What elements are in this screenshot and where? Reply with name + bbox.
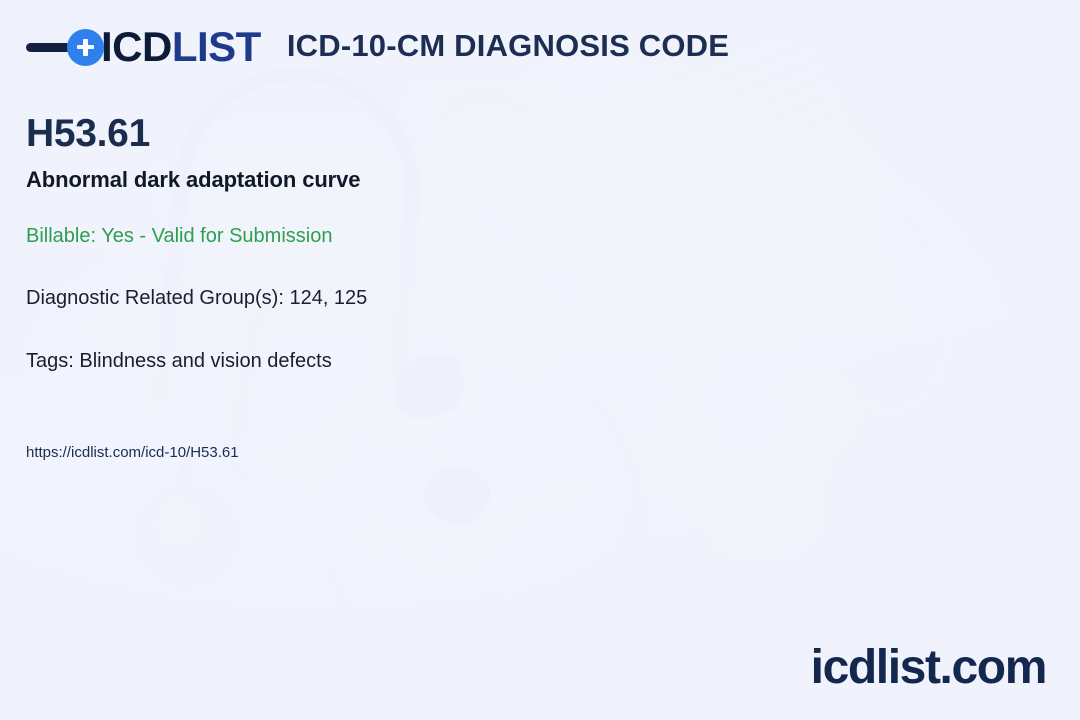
logo-word-icd: ICD [101,23,172,70]
source-url[interactable]: https://icdlist.com/icd-10/H53.61 [26,445,239,462]
brand-watermark: icdlist.com [811,644,1046,692]
card-header: ICDLIST ICD-10-CM DIAGNOSIS CODE [26,26,729,68]
plus-circle-icon [67,29,104,66]
diagnosis-code: H53.61 [26,114,150,153]
diagnosis-description: Abnormal dark adaptation curve [26,168,360,192]
billable-status: Billable: Yes - Valid for Submission [26,225,332,247]
icdlist-logo[interactable]: ICDLIST [26,26,261,68]
diagnosis-code-card: ICDLIST ICD-10-CM DIAGNOSIS CODE H53.61 … [0,0,1080,720]
diagnosis-tags: Tags: Blindness and vision defects [26,350,332,372]
drg-groups: Diagnostic Related Group(s): 124, 125 [26,287,367,309]
logo-word-list: LIST [172,23,261,70]
page-title: ICD-10-CM DIAGNOSIS CODE [287,30,729,64]
card-content: ICDLIST ICD-10-CM DIAGNOSIS CODE H53.61 … [0,0,1080,720]
horizontal-dash-icon [26,43,71,52]
